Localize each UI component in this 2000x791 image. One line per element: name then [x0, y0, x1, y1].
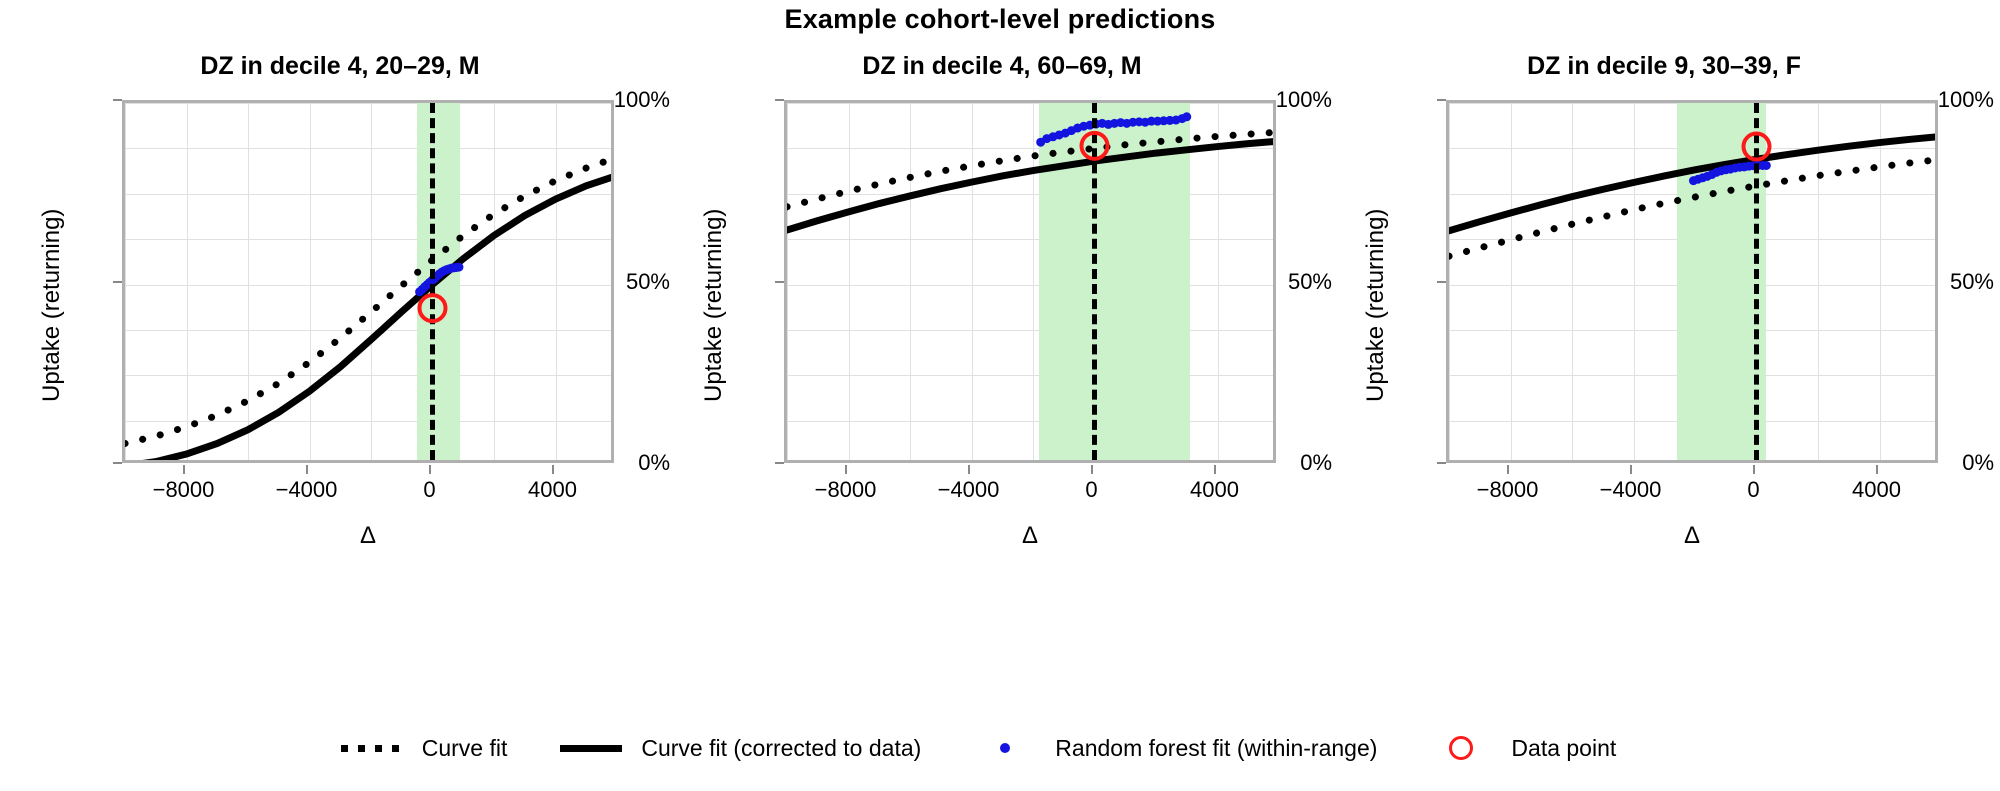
x-tick-mark	[968, 465, 970, 474]
y-tick-mark	[1437, 281, 1446, 283]
y-tick-mark	[775, 462, 784, 464]
y-tick-mark	[1437, 462, 1446, 464]
panel-title: DZ in decile 9, 30–39, F	[1334, 52, 1994, 81]
data-point-marker	[1744, 134, 1770, 160]
x-tick-mark	[1753, 465, 1755, 474]
x-tick-mark	[183, 465, 185, 474]
legend-label: Data point	[1511, 735, 1616, 762]
y-axis-title: Uptake (returning)	[1362, 208, 1390, 401]
chart-legend: Curve fitCurve fit (corrected to data)Ra…	[0, 718, 2000, 778]
legend-key-dotted-line-icon	[336, 733, 408, 763]
legend-item-2[interactable]: Curve fit (corrected to data)	[555, 733, 969, 763]
x-tick-label: −4000	[938, 477, 1000, 503]
x-tick-mark	[1091, 465, 1093, 474]
x-axis-title: Δ	[1446, 522, 1938, 550]
plot-area	[1446, 100, 1938, 463]
x-tick-label: −4000	[1600, 477, 1662, 503]
data-point-layer	[787, 103, 1276, 463]
figure-title: Example cohort-level predictions	[0, 4, 2000, 35]
dotted-line-glyph	[341, 745, 403, 752]
legend-key-red-open-circle-icon	[1425, 733, 1497, 763]
x-tick-mark	[845, 465, 847, 474]
x-tick-label: −8000	[153, 477, 215, 503]
x-axis-title: Δ	[122, 522, 614, 550]
y-tick-mark	[775, 281, 784, 283]
x-tick-label: −4000	[276, 477, 338, 503]
data-point-layer	[1449, 103, 1938, 463]
red-open-circle-glyph	[1449, 736, 1473, 760]
panel-3: DZ in decile 9, 30–39, F0%50%100%Uptake …	[1334, 52, 1994, 572]
solid-line-glyph	[560, 745, 622, 752]
x-tick-mark	[306, 465, 308, 474]
x-tick-mark	[1214, 465, 1216, 474]
data-point-layer	[125, 103, 614, 463]
x-tick-mark	[1876, 465, 1878, 474]
x-tick-label: 4000	[1190, 477, 1239, 503]
legend-item-4[interactable]: Data point	[1425, 733, 1664, 763]
panel-1: DZ in decile 4, 20–29, M0%50%100%Uptake …	[10, 52, 670, 572]
data-point-marker	[420, 295, 446, 321]
x-tick-label: −8000	[1477, 477, 1539, 503]
x-tick-label: −8000	[815, 477, 877, 503]
legend-label: Curve fit (corrected to data)	[641, 735, 921, 762]
panel-2: DZ in decile 4, 60–69, M0%50%100%Uptake …	[672, 52, 1332, 572]
y-axis-title: Uptake (returning)	[38, 208, 66, 401]
x-tick-mark	[429, 465, 431, 474]
legend-key-blue-dot-icon	[969, 733, 1041, 763]
y-tick-mark	[113, 281, 122, 283]
legend-label: Random forest fit (within-range)	[1055, 735, 1377, 762]
panel-title: DZ in decile 4, 20–29, M	[10, 52, 670, 81]
plot-area	[784, 100, 1276, 463]
x-tick-label: 0	[1085, 477, 1097, 503]
data-point-marker	[1082, 133, 1108, 159]
x-tick-mark	[1507, 465, 1509, 474]
plot-area	[122, 100, 614, 463]
y-tick-mark	[113, 99, 122, 101]
legend-label: Curve fit	[422, 735, 508, 762]
x-tick-label: 4000	[528, 477, 577, 503]
y-axis-title: Uptake (returning)	[700, 208, 728, 401]
blue-dot-glyph	[1000, 743, 1010, 753]
x-tick-mark	[552, 465, 554, 474]
legend-key-solid-line-icon	[555, 733, 627, 763]
y-tick-mark	[113, 462, 122, 464]
panel-title: DZ in decile 4, 60–69, M	[672, 52, 1332, 81]
figure-root: Example cohort-level predictions DZ in d…	[0, 0, 2000, 791]
x-tick-mark	[1630, 465, 1632, 474]
y-tick-mark	[1437, 99, 1446, 101]
x-tick-label: 4000	[1852, 477, 1901, 503]
legend-item-3[interactable]: Random forest fit (within-range)	[969, 733, 1425, 763]
y-tick-mark	[775, 99, 784, 101]
x-axis-title: Δ	[784, 522, 1276, 550]
x-tick-label: 0	[1747, 477, 1759, 503]
legend-item-1[interactable]: Curve fit	[336, 733, 556, 763]
x-tick-label: 0	[423, 477, 435, 503]
